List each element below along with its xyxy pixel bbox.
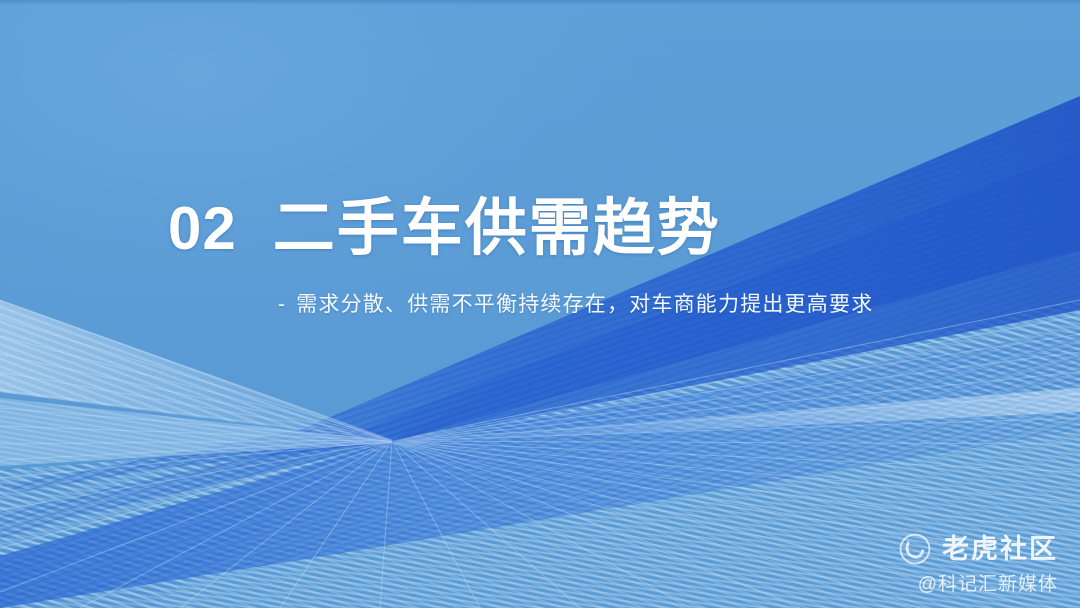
slide-title-block: 02 二手车供需趋势 -需求分散、供需不平衡持续存在，对车商能力提出更高要求 bbox=[168, 198, 968, 318]
page-title: 二手车供需趋势 bbox=[273, 198, 721, 260]
presentation-slide: 02 二手车供需趋势 -需求分散、供需不平衡持续存在，对车商能力提出更高要求 老… bbox=[0, 0, 1080, 608]
section-number: 02 bbox=[168, 199, 237, 259]
slide-subtitle: -需求分散、供需不平衡持续存在，对车商能力提出更高要求 bbox=[278, 288, 968, 318]
headline: 02 二手车供需趋势 bbox=[168, 198, 968, 260]
subtitle-text: 需求分散、供需不平衡持续存在，对车商能力提出更高要求 bbox=[296, 293, 873, 316]
subtitle-dash: - bbox=[278, 293, 286, 316]
